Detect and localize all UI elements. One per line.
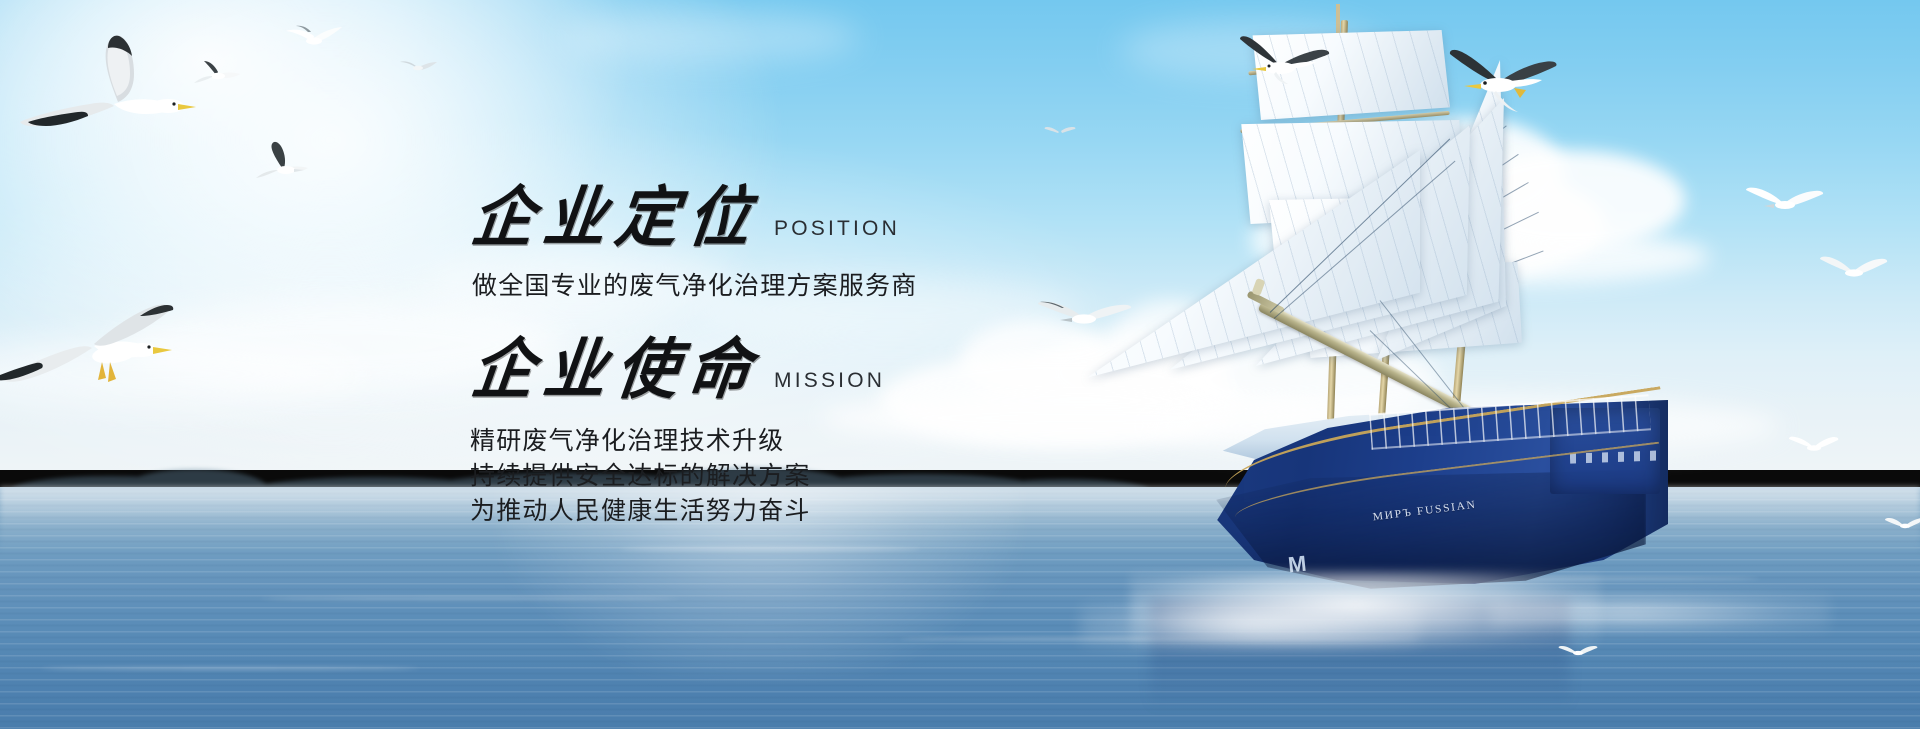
- position-subtitle: 做全国专业的废气净化治理方案服务商: [472, 266, 917, 302]
- position-title-cn: 企业定位: [468, 186, 764, 252]
- mission-title-en: MISSION: [774, 369, 885, 402]
- mission-headline: 企业使命 MISSION: [472, 340, 885, 402]
- copy-overlay: 企业定位 POSITION 做全国专业的废气净化治理方案服务商 企业使命 MIS…: [0, 0, 1920, 729]
- mission-line: 精研废气净化治理技术升级: [470, 424, 811, 459]
- mission-title-cn: 企业使命: [468, 338, 764, 404]
- position-title-en: POSITION: [774, 217, 900, 250]
- mission-body: 精研废气净化治理技术升级 持续提供安全达标的解决方案 为推动人民健康生活努力奋斗: [470, 424, 811, 529]
- hero-banner: МИРЪ FUSSIAN M: [0, 0, 1920, 729]
- position-headline: 企业定位 POSITION: [472, 188, 900, 250]
- mission-line: 持续提供安全达标的解决方案: [470, 459, 811, 494]
- mission-line: 为推动人民健康生活努力奋斗: [470, 494, 811, 529]
